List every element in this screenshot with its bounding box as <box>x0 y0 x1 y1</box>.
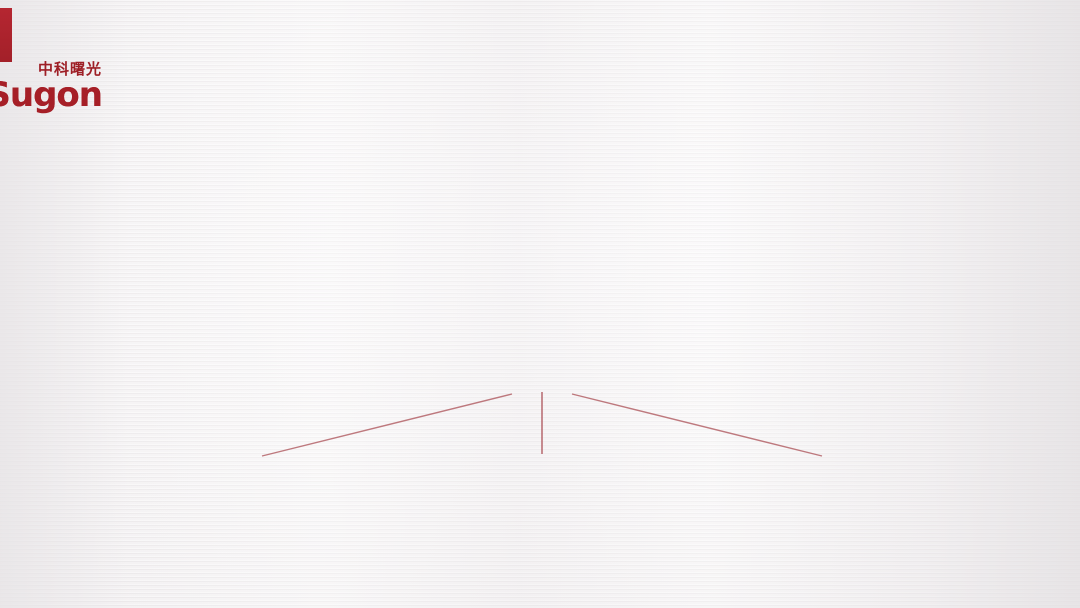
connector-lines <box>0 104 1080 608</box>
accent-bar <box>0 8 12 62</box>
logo-wordmark: Sugon <box>0 78 102 112</box>
brand-logo: 中科曙光 Sugon <box>0 62 102 112</box>
slide-canvas: 中科曙光 Sugon 生态级 一体化大数据中心 支撑 协同 软件、数据、应用伙伴… <box>0 0 1080 608</box>
